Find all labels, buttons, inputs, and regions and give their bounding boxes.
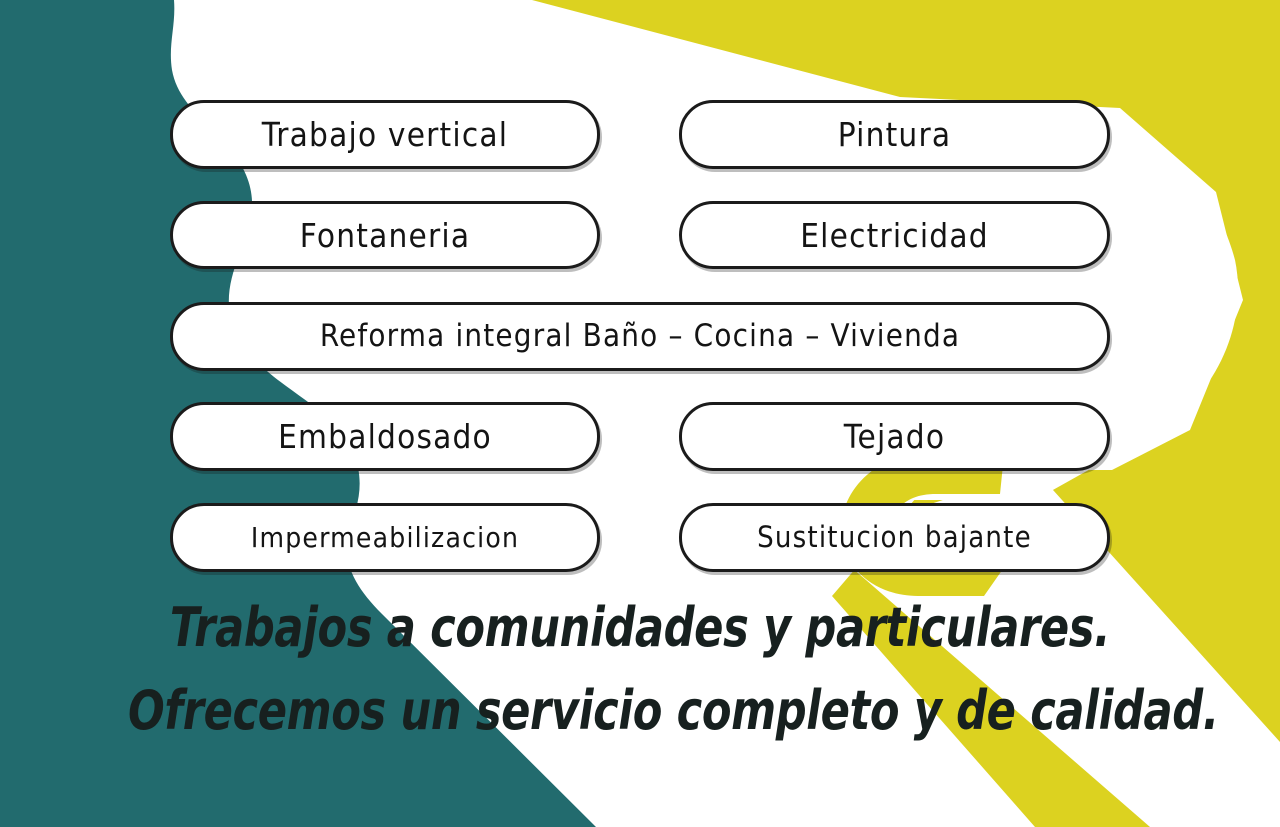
service-pill-embaldosado[interactable]: Embaldosado bbox=[170, 402, 600, 471]
tagline-line-2: Ofrecemos un servicio completo y de cali… bbox=[128, 684, 1152, 738]
service-pill-tejado[interactable]: Tejado bbox=[679, 402, 1110, 471]
service-pill-electricidad[interactable]: Electricidad bbox=[679, 201, 1110, 269]
service-pill-trabajo-vertical[interactable]: Trabajo vertical bbox=[170, 100, 600, 169]
service-pill-label: Trabajo vertical bbox=[262, 118, 508, 151]
service-pill-label: Sustitucion bajante bbox=[757, 523, 1032, 552]
service-pill-sustitucion-bajante[interactable]: Sustitucion bajante bbox=[679, 503, 1110, 572]
service-pill-label: Embaldosado bbox=[278, 420, 492, 453]
poster-canvas: Trabajo vertical Pintura Fontaneria Elec… bbox=[0, 0, 1280, 827]
tagline-line-1: Trabajos a comunidades y particulares. bbox=[128, 601, 1152, 655]
service-pill-reforma-integral[interactable]: Reforma integral Baño – Cocina – Viviend… bbox=[170, 302, 1110, 371]
service-pill-label: Reforma integral Baño – Cocina – Viviend… bbox=[320, 321, 960, 352]
service-pill-fontaneria[interactable]: Fontaneria bbox=[170, 201, 600, 269]
service-pill-label: Impermeabilizacion bbox=[251, 524, 519, 552]
service-pill-label: Pintura bbox=[838, 118, 952, 151]
service-pill-label: Tejado bbox=[844, 420, 945, 453]
service-pill-label: Electricidad bbox=[800, 219, 989, 252]
service-pill-impermeabilizacion[interactable]: Impermeabilizacion bbox=[170, 503, 600, 572]
service-pill-label: Fontaneria bbox=[300, 219, 470, 252]
service-pill-pintura[interactable]: Pintura bbox=[679, 100, 1110, 169]
